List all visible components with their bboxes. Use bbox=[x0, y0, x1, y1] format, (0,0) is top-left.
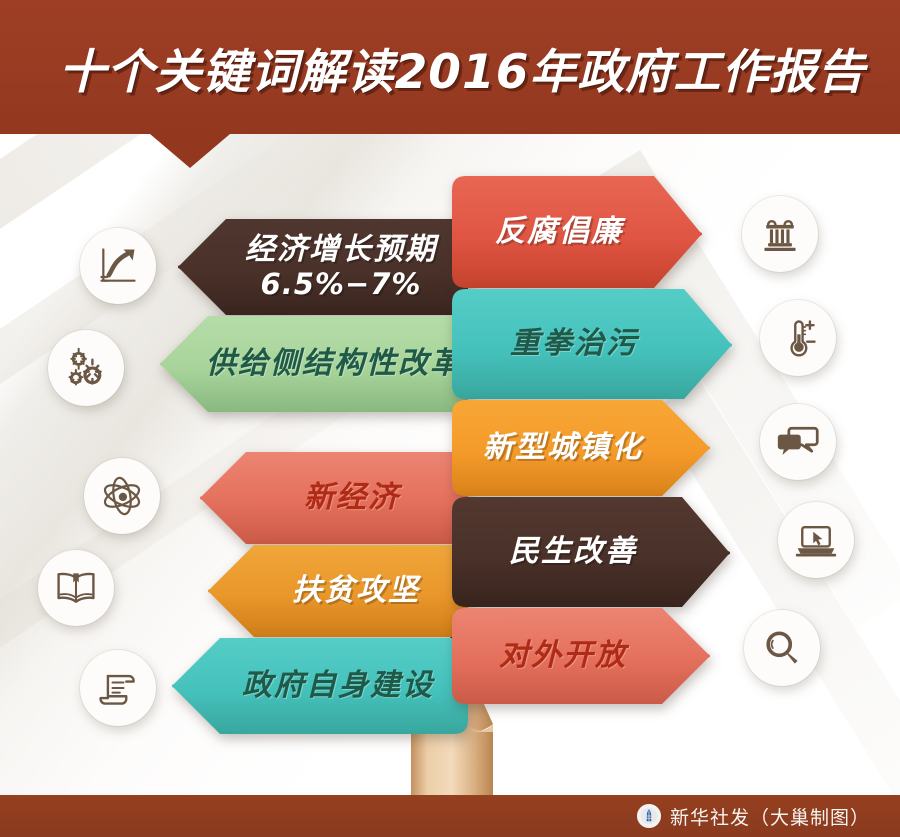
icon-bubble-magnifier[interactable] bbox=[744, 610, 820, 686]
keyword-text: 对外开放 bbox=[499, 638, 627, 673]
keyword-label: 民生改善 bbox=[452, 535, 730, 570]
gears-icon bbox=[64, 346, 108, 390]
page-title: 十个关键词解读2016年政府工作报告 bbox=[0, 0, 900, 134]
icon-bubble-laptop-cursor[interactable] bbox=[778, 502, 854, 578]
keyword-text: 经济增长预期 bbox=[245, 232, 437, 267]
infographic-poster: 十个关键词解读2016年政府工作报告 bbox=[0, 0, 900, 837]
keyword-label: 重拳治污 bbox=[452, 327, 732, 362]
atom-icon bbox=[100, 474, 144, 518]
footer-bar: 新华社发（大巢制图） bbox=[0, 795, 900, 837]
keyword-banner-left-4[interactable]: 扶贫攻坚 bbox=[208, 545, 468, 637]
growth-chart-icon bbox=[96, 244, 140, 288]
keyword-label: 新经济 bbox=[200, 481, 468, 516]
icon-bubble-speech-bubbles[interactable] bbox=[760, 404, 836, 480]
keyword-banner-right-3[interactable]: 新型城镇化 bbox=[452, 400, 710, 496]
header-bar: 十个关键词解读2016年政府工作报告 bbox=[0, 0, 900, 134]
keyword-subtext: 6.5%−7% bbox=[224, 268, 458, 302]
icon-bubble-pillar[interactable] bbox=[742, 196, 818, 272]
magnifier-icon bbox=[760, 626, 804, 670]
keyword-label: 经济增长预期 6.5%−7% bbox=[178, 233, 468, 301]
credit-text: 新华社发（大巢制图） bbox=[670, 803, 870, 830]
keyword-banner-right-1[interactable]: 反腐倡廉 bbox=[452, 176, 702, 288]
icon-bubble-thermometer[interactable] bbox=[760, 300, 836, 376]
keyword-label: 政府自身建设 bbox=[172, 669, 468, 704]
credit: 新华社发（大巢制图） bbox=[637, 803, 870, 830]
keyword-label: 扶贫攻坚 bbox=[208, 574, 468, 609]
keyword-banner-right-5[interactable]: 对外开放 bbox=[452, 608, 710, 704]
scroll-icon bbox=[96, 666, 140, 710]
keyword-text: 反腐倡廉 bbox=[495, 214, 623, 249]
speech-bubbles-icon bbox=[776, 420, 820, 464]
keyword-banner-right-4[interactable]: 民生改善 bbox=[452, 497, 730, 607]
open-book-icon bbox=[54, 566, 98, 610]
keyword-label: 反腐倡廉 bbox=[452, 215, 702, 250]
icon-bubble-open-book[interactable] bbox=[38, 550, 114, 626]
keyword-banner-right-2[interactable]: 重拳治污 bbox=[452, 289, 732, 399]
icon-bubble-growth-chart[interactable] bbox=[80, 228, 156, 304]
keyword-text: 重拳治污 bbox=[510, 326, 638, 361]
thermometer-icon bbox=[776, 316, 820, 360]
keyword-text: 民生改善 bbox=[509, 534, 637, 569]
keyword-text: 新经济 bbox=[304, 480, 400, 515]
icon-bubble-atom[interactable] bbox=[84, 458, 160, 534]
keyword-label: 供给侧结构性改革 bbox=[160, 347, 468, 382]
keyword-text: 供给侧结构性改革 bbox=[206, 346, 462, 381]
keyword-label: 新型城镇化 bbox=[452, 431, 710, 466]
keyword-banner-left-3[interactable]: 新经济 bbox=[200, 452, 468, 544]
keyword-banner-left-1[interactable]: 经济增长预期 6.5%−7% bbox=[178, 219, 468, 315]
icon-bubble-scroll[interactable] bbox=[80, 650, 156, 726]
keyword-text: 扶贫攻坚 bbox=[292, 573, 420, 608]
keyword-banner-left-2[interactable]: 供给侧结构性改革 bbox=[160, 316, 468, 412]
header-notch-triangle bbox=[150, 134, 230, 168]
keyword-label: 对外开放 bbox=[452, 639, 710, 674]
keyword-text: 政府自身建设 bbox=[242, 668, 434, 703]
keyword-banner-left-5[interactable]: 政府自身建设 bbox=[172, 638, 468, 734]
laptop-cursor-icon bbox=[794, 518, 838, 562]
pillar-icon bbox=[758, 212, 802, 256]
xinhua-logo-icon bbox=[637, 804, 661, 828]
icon-bubble-gears[interactable] bbox=[48, 330, 124, 406]
keyword-text: 新型城镇化 bbox=[483, 430, 643, 465]
